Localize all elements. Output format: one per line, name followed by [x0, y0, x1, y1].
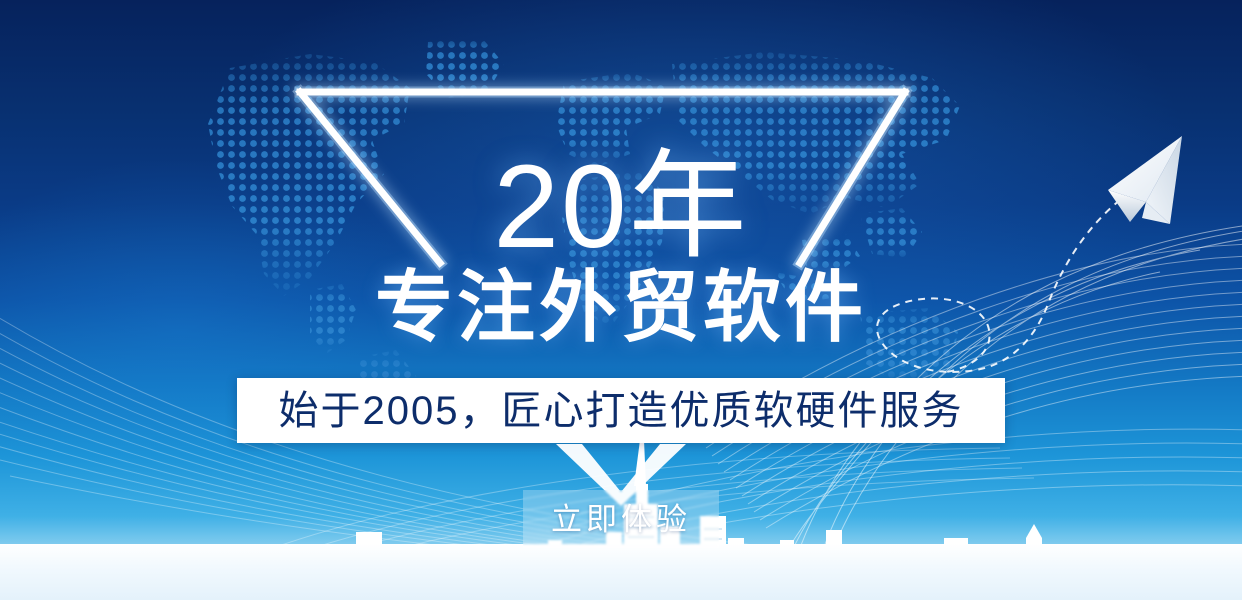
- years-headline: 20年: [0, 148, 1242, 266]
- ground-band: [0, 544, 1242, 600]
- subtitle-bar: 始于2005，匠心打造优质软硬件服务: [237, 378, 1005, 443]
- main-headline: 专注外贸软件: [0, 268, 1242, 346]
- experience-now-button[interactable]: 立即体验: [523, 490, 719, 548]
- promo-banner: 20年 专注外贸软件 始于2005，匠心打造优质软硬件服务 立即体验: [0, 0, 1242, 600]
- subtitle-text: 始于2005，匠心打造优质软硬件服务: [279, 391, 964, 431]
- cta-label: 立即体验: [551, 504, 691, 535]
